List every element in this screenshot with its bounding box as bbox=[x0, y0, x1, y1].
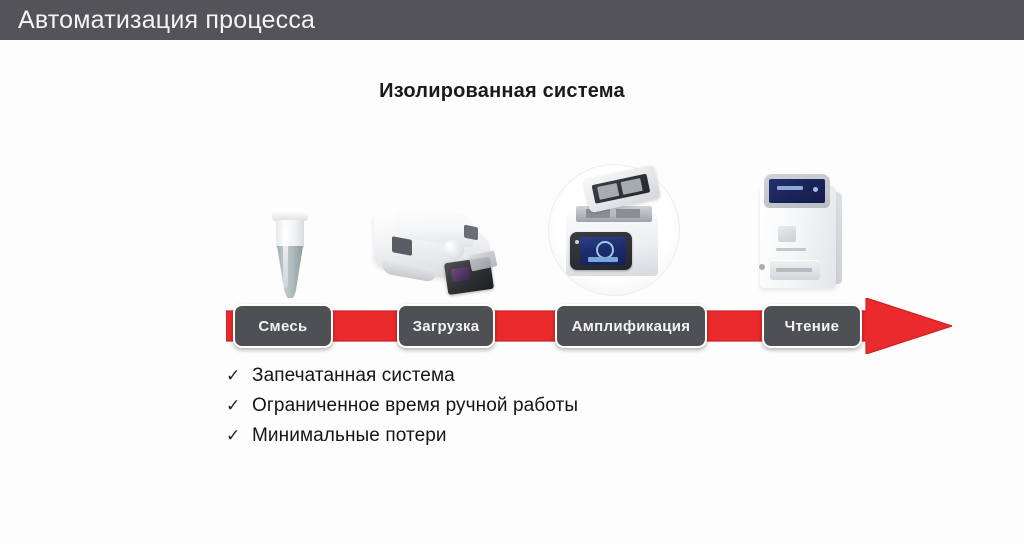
stage-label: Чтение bbox=[785, 318, 840, 335]
benefit-text: Ограниченное время ручной работы bbox=[252, 392, 578, 419]
stage-box-loading[interactable]: Загрузка bbox=[397, 304, 495, 348]
sequencer-screen-indicator bbox=[813, 187, 818, 192]
stage-label: Смесь bbox=[258, 318, 307, 335]
tube-neck bbox=[276, 220, 304, 248]
sequencer-screen-logo bbox=[777, 186, 803, 190]
tube-highlight bbox=[283, 226, 288, 288]
benefit-text: Минимальные потери bbox=[252, 422, 447, 449]
section-title: Изолированная система bbox=[0, 80, 1024, 103]
slide: Автоматизация процесса Изолированная сис… bbox=[0, 0, 1024, 543]
loader-port-right bbox=[464, 225, 478, 241]
sequencer-drawer bbox=[770, 260, 820, 280]
sequencer-label-strip bbox=[776, 248, 806, 251]
checkmark-icon: ✓ bbox=[226, 422, 252, 449]
cycler-sample-block bbox=[576, 206, 652, 222]
stage-box-reading[interactable]: Чтение bbox=[762, 304, 862, 348]
checkmark-icon: ✓ bbox=[226, 362, 252, 389]
cycler-power-led bbox=[575, 240, 579, 244]
benefits-list: ✓ Запечатанная система ✓ Ограниченное вр… bbox=[226, 362, 846, 452]
checkmark-icon: ✓ bbox=[226, 392, 252, 419]
section-title-text: Изолированная система bbox=[379, 80, 625, 103]
stage-box-mixture[interactable]: Смесь bbox=[233, 304, 333, 348]
sequencer-power-button bbox=[759, 264, 765, 270]
microcentrifuge-tube-image bbox=[268, 212, 312, 304]
cycler-screen-bar bbox=[588, 257, 618, 262]
stage-box-amplification[interactable]: Амплификация bbox=[555, 304, 707, 348]
loader-knob bbox=[442, 240, 464, 260]
stage-label: Загрузка bbox=[413, 318, 480, 335]
sequencer-image bbox=[752, 168, 852, 304]
thermal-cycler-image bbox=[548, 160, 684, 308]
slide-body bbox=[0, 40, 1024, 543]
sequencer-screen-content bbox=[769, 179, 825, 203]
list-item: ✓ Ограниченное время ручной работы bbox=[226, 392, 846, 419]
stage-label: Амплификация bbox=[572, 318, 691, 335]
cartridge-window bbox=[451, 267, 471, 282]
cartridge-chip bbox=[444, 257, 494, 295]
page-title: Автоматизация процесса bbox=[18, 5, 315, 36]
sequencer-touchscreen bbox=[764, 174, 830, 208]
cycler-lid-window bbox=[592, 174, 651, 204]
cycler-screen-content bbox=[580, 237, 626, 265]
benefit-text: Запечатанная система bbox=[252, 362, 455, 389]
cycler-touchscreen bbox=[570, 232, 632, 270]
tube-body bbox=[277, 246, 303, 298]
sample-loader-image bbox=[368, 202, 508, 304]
sequencer-badge bbox=[778, 226, 796, 242]
list-item: ✓ Минимальные потери bbox=[226, 422, 846, 449]
header-bar: Автоматизация процесса bbox=[0, 0, 1024, 40]
list-item: ✓ Запечатанная система bbox=[226, 362, 846, 389]
